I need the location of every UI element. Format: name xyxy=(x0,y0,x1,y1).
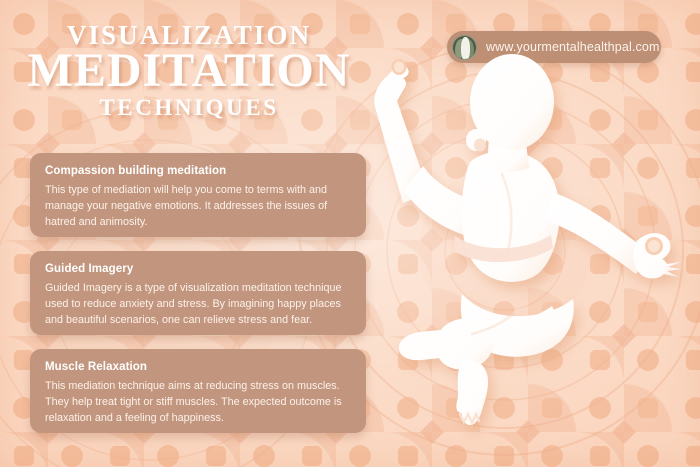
title-line-3: TECHNIQUES xyxy=(0,96,378,119)
card-title: Guided Imagery xyxy=(45,263,351,275)
technique-card: Guided Imagery Guided Imagery is a type … xyxy=(30,251,366,335)
page-title: VISUALIZATION MEDITATION TECHNIQUES xyxy=(0,22,378,119)
meditating-woman-silhouette xyxy=(352,44,700,444)
card-title: Compassion building meditation xyxy=(45,165,351,177)
infographic-poster: VISUALIZATION MEDITATION TECHNIQUES www.… xyxy=(0,0,700,467)
title-line-2: MEDITATION xyxy=(0,47,378,95)
card-body: This mediation technique aims at reducin… xyxy=(45,379,351,427)
technique-card: Compassion building meditation This type… xyxy=(30,153,366,237)
technique-card: Muscle Relaxation This mediation techniq… xyxy=(30,349,366,433)
card-title: Muscle Relaxation xyxy=(45,361,351,373)
card-body: This type of mediation will help you com… xyxy=(45,183,351,231)
card-body: Guided Imagery is a type of visualizatio… xyxy=(45,281,351,329)
